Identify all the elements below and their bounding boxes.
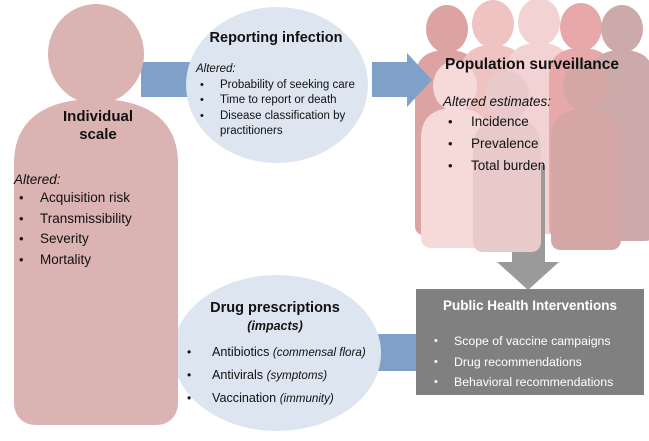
list-item: Antivirals (symptoms): [182, 364, 392, 387]
population-surveillance-title: Population surveillance: [420, 56, 644, 74]
individual-scale-title-line1: Individual: [18, 108, 178, 126]
list-item: Transmissibility: [14, 209, 174, 230]
reporting-altered-list: Probability of seeking care Time to repo…: [196, 78, 368, 140]
drug-prescriptions-list: Antibiotics (commensal flora) Antivirals…: [182, 341, 392, 410]
list-item: Disease classification by practitioners: [196, 109, 368, 140]
list-item: Scope of vaccine campaigns: [428, 331, 642, 352]
drug-note: (commensal flora): [273, 346, 366, 359]
list-item: Severity: [14, 229, 174, 250]
reporting-infection-title: Reporting infection: [186, 30, 366, 46]
list-item: Total burden: [443, 155, 643, 177]
list-item: Antibiotics (commensal flora): [182, 341, 392, 364]
public-health-interventions-list: Scope of vaccine campaigns Drug recommen…: [428, 331, 642, 393]
public-health-interventions-title: Public Health Interventions: [416, 298, 644, 313]
drug-name: Antivirals: [212, 368, 263, 382]
individual-altered-label: Altered:: [14, 172, 61, 187]
individual-altered-list: Acquisition risk Transmissibility Severi…: [14, 188, 174, 270]
population-estimates-list: Incidence Prevalence Total burden: [443, 111, 643, 177]
list-item: Drug recommendations: [428, 352, 642, 373]
reporting-altered-label: Altered:: [196, 63, 236, 75]
population-altered-estimates-label: Altered estimates:: [443, 94, 551, 109]
list-item: Vaccination (immunity): [182, 387, 392, 410]
list-item: Behavioral recommendations: [428, 372, 642, 393]
individual-scale-title: Individual scale: [18, 108, 178, 144]
drug-prescriptions-subtitle: (impacts): [180, 319, 370, 333]
list-item: Mortality: [14, 250, 174, 271]
list-item: Time to report or death: [196, 93, 368, 108]
drug-prescriptions-title: Drug prescriptions: [180, 300, 370, 316]
individual-scale-title-line2: scale: [18, 126, 178, 144]
list-item: Acquisition risk: [14, 188, 174, 209]
list-item: Incidence: [443, 111, 643, 133]
drug-note: (immunity): [280, 392, 334, 405]
drug-name: Antibiotics: [212, 345, 269, 359]
list-item: Probability of seeking care: [196, 78, 368, 93]
list-item: Prevalence: [443, 133, 643, 155]
diagram-canvas: Individual scale Altered: Acquisition ri…: [0, 0, 649, 441]
drug-note: (symptoms): [267, 369, 328, 382]
drug-name: Vaccination: [212, 391, 276, 405]
